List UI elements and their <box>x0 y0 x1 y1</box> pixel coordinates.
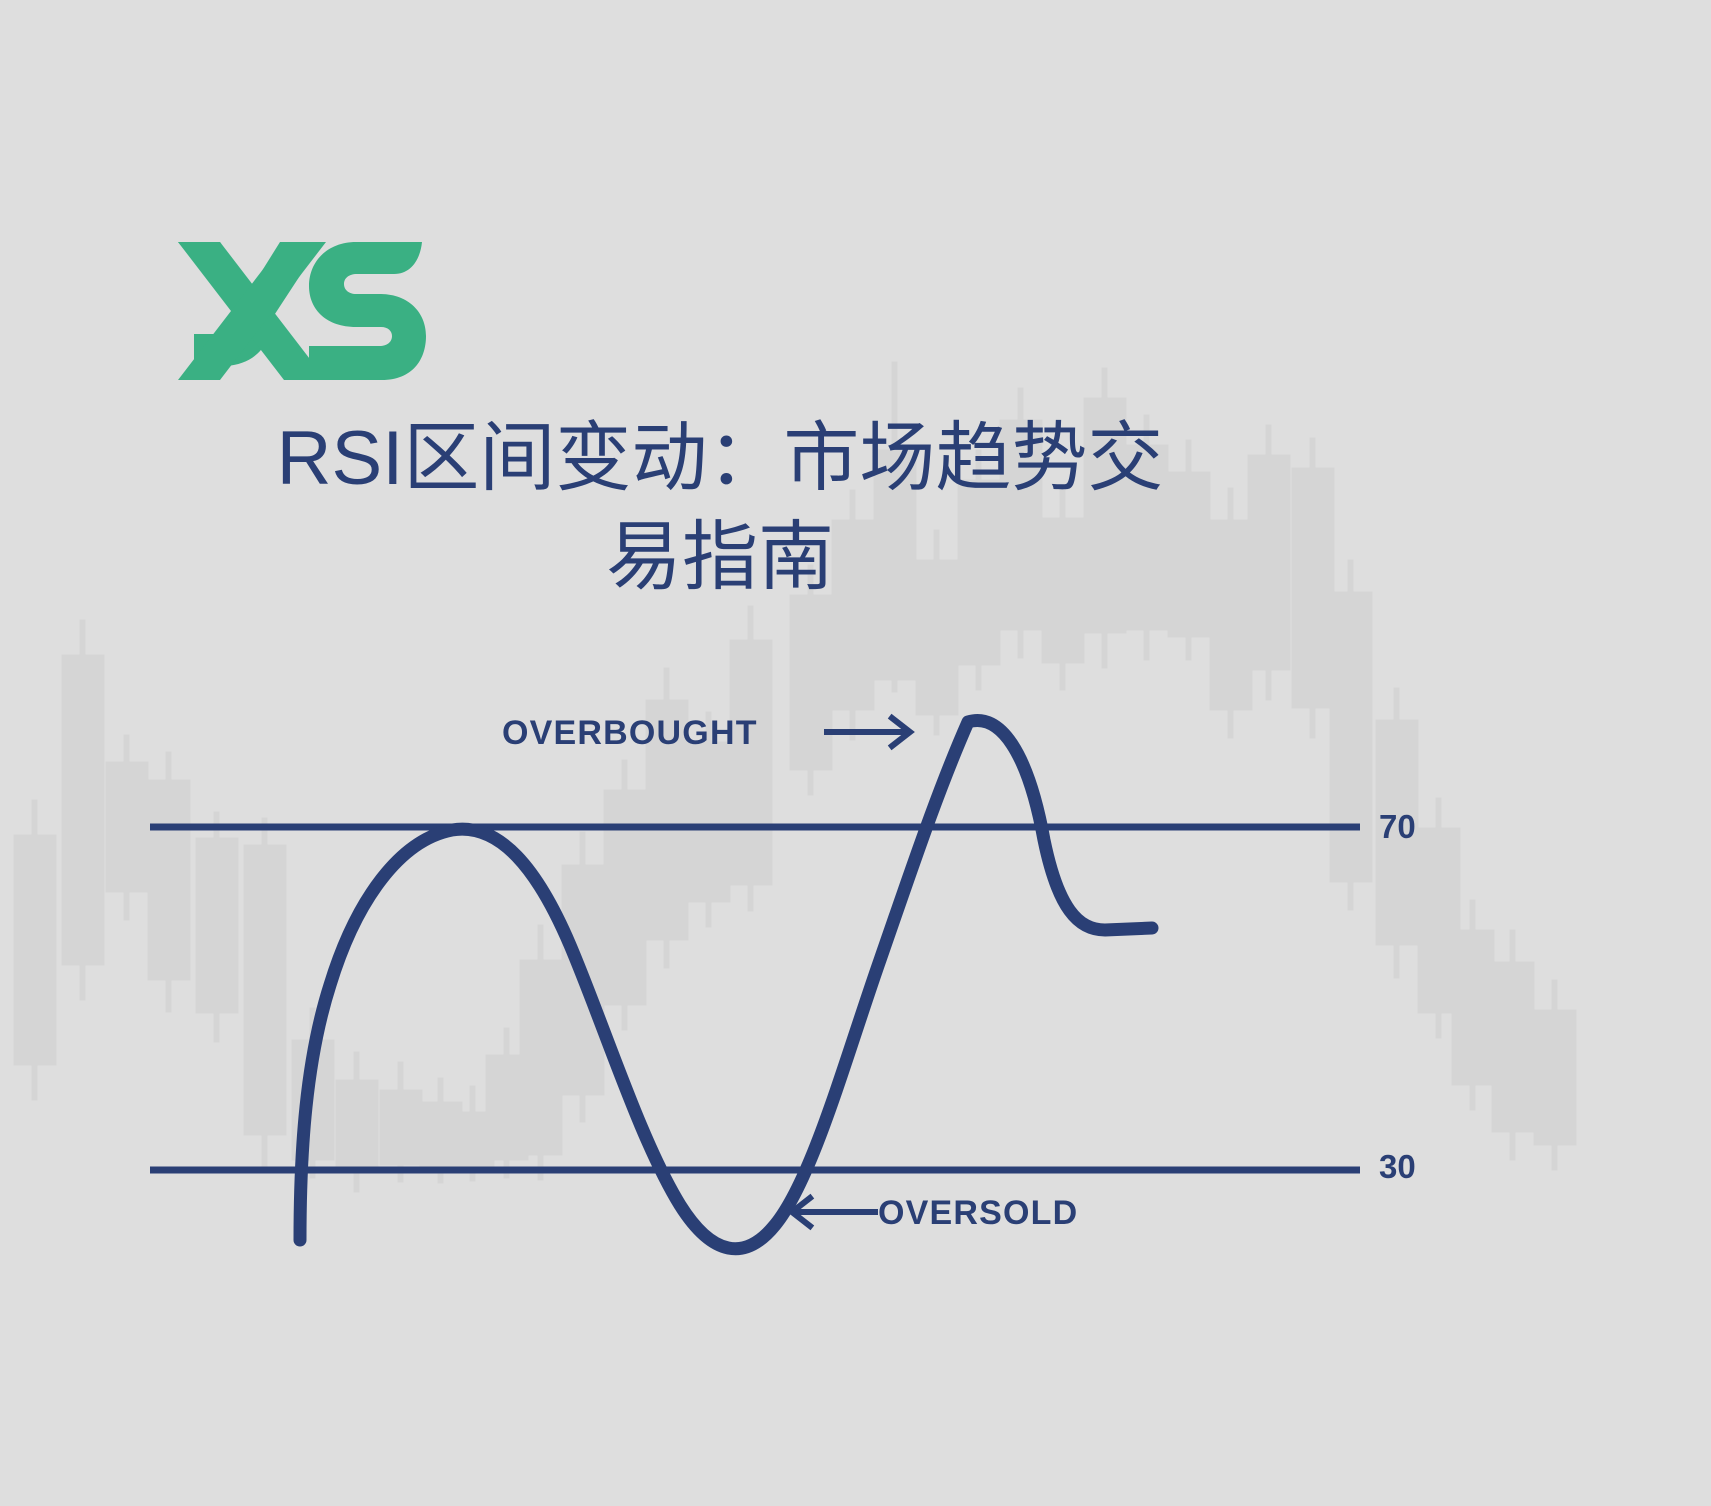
level-label-30: 30 <box>1379 1148 1416 1186</box>
oversold-label: OVERSOLD <box>878 1194 1078 1233</box>
page-title-line-1: RSI区间变动：市场趋势交 <box>160 410 1280 509</box>
level-label-70: 70 <box>1379 808 1416 846</box>
rsi-chart <box>0 0 1711 1506</box>
arrow-left-icon <box>782 1192 882 1232</box>
overbought-label: OVERBOUGHT <box>502 714 758 753</box>
page-title: RSI区间变动：市场趋势交 易指南 <box>160 410 1280 608</box>
xs-logo <box>176 228 426 380</box>
page-title-line-2: 易指南 <box>160 509 1280 608</box>
arrow-right-icon <box>820 712 920 752</box>
poster-canvas: RSI区间变动：市场趋势交 易指南 70 30 OVERBOUGHT OVERS… <box>0 0 1711 1506</box>
